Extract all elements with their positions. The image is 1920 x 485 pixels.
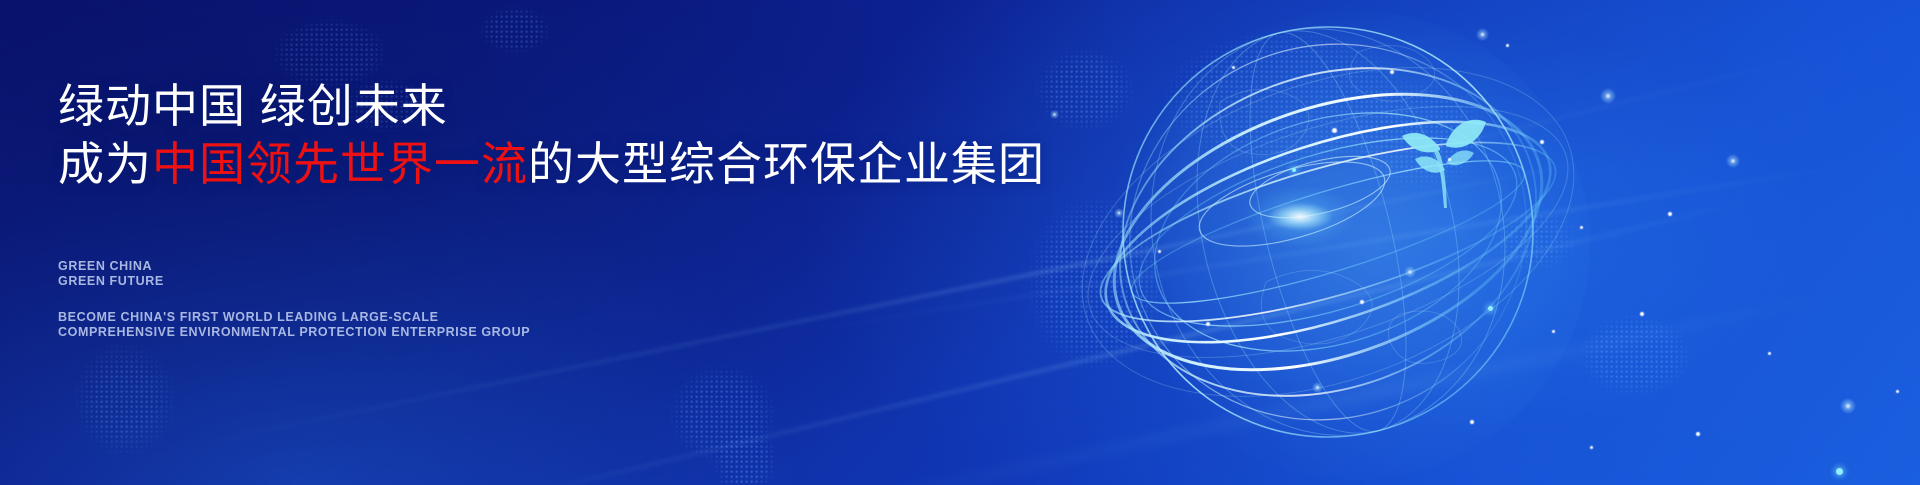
particle — [1640, 312, 1644, 316]
headline-suffix-text: 的大型综合环保企业集团 — [528, 138, 1045, 190]
particle — [1768, 352, 1771, 355]
particle — [1896, 390, 1899, 393]
sprout-icon — [1384, 104, 1504, 224]
particle — [1312, 382, 1323, 393]
particle — [1552, 330, 1555, 333]
particle — [1600, 88, 1616, 104]
english-description-line-2: COMPREHENSIVE ENVIRONMENTAL PROTECTION E… — [58, 325, 530, 340]
english-slogan-line-2: GREEN FUTURE — [58, 274, 164, 289]
particle — [1292, 168, 1296, 172]
english-description-line-1: BECOME CHINA'S FIRST WORLD LEADING LARGE… — [58, 310, 530, 325]
particle — [1232, 66, 1235, 69]
particle — [1448, 158, 1451, 161]
hero-banner: 绿动中国 绿创未来 成为中国领先世界一流的大型综合环保企业集团 GREEN CH… — [0, 0, 1920, 485]
banner-text-block: 绿动中国 绿创未来 成为中国领先世界一流的大型综合环保企业集团 GREEN CH… — [58, 0, 1058, 485]
light-sweep-5 — [993, 41, 1867, 260]
particle — [1668, 212, 1672, 216]
light-sweep-1 — [165, 150, 1635, 451]
particle — [1390, 70, 1394, 74]
light-sweep-3 — [767, 164, 1854, 338]
light-sweep-4 — [633, 288, 1857, 485]
particle — [1726, 154, 1740, 168]
particle — [1206, 322, 1210, 326]
english-description: BECOME CHINA'S FIRST WORLD LEADING LARGE… — [58, 310, 530, 340]
particle — [1580, 226, 1583, 229]
world-map-dots — [0, 0, 1920, 485]
particle — [1050, 110, 1059, 119]
particle — [1476, 28, 1489, 41]
english-slogan: GREEN CHINA GREEN FUTURE — [58, 259, 164, 289]
wireframe-globe-graphic — [1070, 0, 1590, 485]
particle — [1114, 208, 1124, 218]
particle — [1540, 140, 1544, 144]
particle — [1506, 44, 1509, 47]
headline-prefix-text: 成为 — [58, 138, 152, 190]
headline-line-1: 绿动中国 绿创未来 — [58, 80, 448, 132]
globe-core-flare — [1222, 162, 1372, 267]
globe-glow — [1120, 10, 1590, 480]
particle — [1470, 420, 1474, 424]
english-slogan-line-1: GREEN CHINA — [58, 259, 164, 274]
particle — [1590, 446, 1593, 449]
particle — [1360, 300, 1364, 304]
headline-line-1-text: 绿动中国 绿创未来 — [58, 80, 448, 132]
vignette-overlay — [0, 0, 1920, 485]
light-sweep-2 — [399, 197, 1761, 485]
headline-highlight-text: 中国领先世界一流 — [152, 138, 528, 190]
particle — [1332, 128, 1337, 133]
particle — [1840, 398, 1856, 414]
particle — [1836, 468, 1843, 475]
particle — [1158, 250, 1161, 253]
particle — [1488, 306, 1493, 311]
particle — [1404, 266, 1416, 278]
headline-line-2: 成为中国领先世界一流的大型综合环保企业集团 — [58, 138, 1045, 190]
globe-svg — [1070, 0, 1590, 485]
particle — [1696, 432, 1700, 436]
